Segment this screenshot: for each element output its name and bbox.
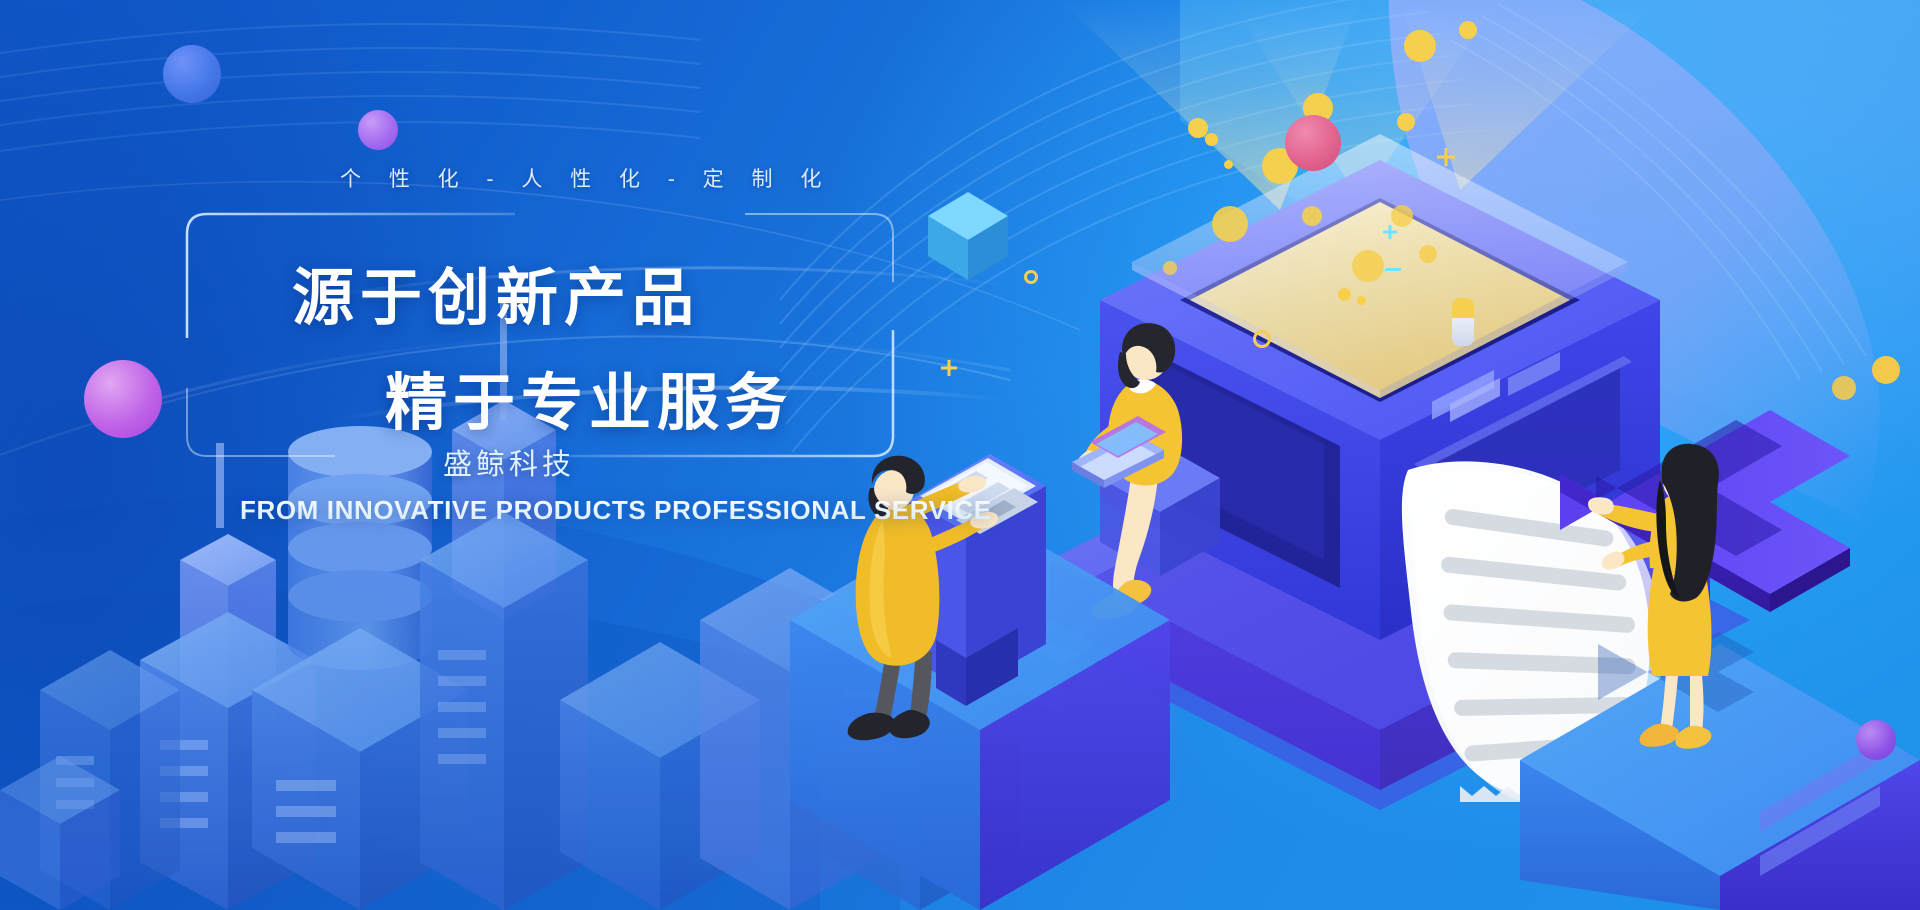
gold-dot-d: [1357, 296, 1366, 305]
english-subtitle: FROM INNOVATIVE PRODUCTS PROFESSIONAL SE…: [240, 495, 992, 526]
banner-text-block: 个 性 化 - 人 性 化 - 定 制 化 源于创新产品: [0, 0, 1010, 910]
cyan-dash-marker: [1385, 268, 1401, 271]
headline-line-2: 精于专业服务: [385, 352, 793, 442]
plus-mark-cyan: [1383, 225, 1397, 239]
gold-dot-c: [1338, 288, 1351, 301]
gold-ring-outline-2: [1253, 330, 1271, 348]
plus-mark-gold: [1437, 148, 1455, 166]
banner-tagline: 个 性 化 - 人 性 化 - 定 制 化: [340, 163, 832, 193]
machine-gold-dots: [1832, 356, 1900, 400]
gold-dot-b: [1224, 160, 1233, 169]
hero-banner: 个 性 化 - 人 性 化 - 定 制 化 源于创新产品: [0, 0, 1920, 910]
gold-dot-a: [1205, 133, 1218, 146]
floating-sphere-pink: [1285, 115, 1341, 171]
company-name: 盛鲸科技: [443, 441, 575, 483]
gold-capsule-marker: [1452, 298, 1474, 346]
headline-line-1: 源于创新产品: [292, 247, 700, 337]
floating-sphere-purple-small: [1856, 720, 1896, 760]
gold-ring-outline: [1024, 270, 1038, 284]
